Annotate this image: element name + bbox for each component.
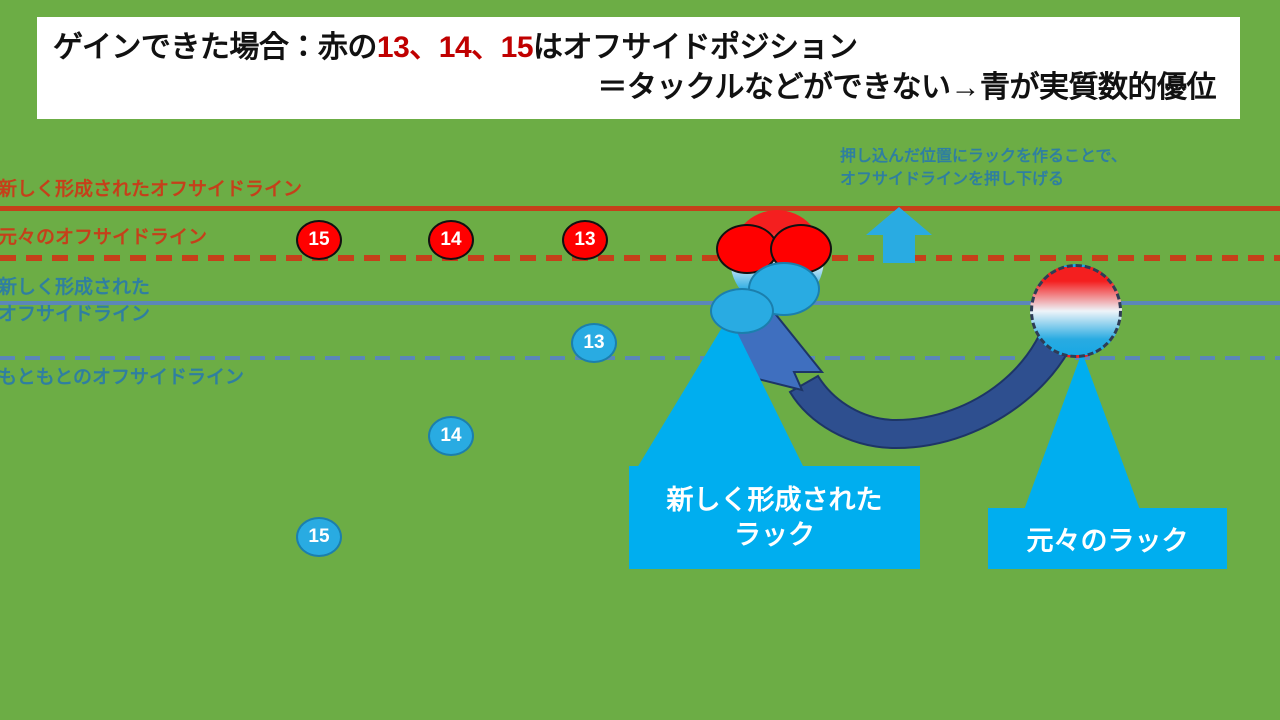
new-blue-offside-line-label-line1: 新しく形成された <box>0 278 150 298</box>
red-player-13-number: 13 <box>574 229 595 251</box>
red-player-14-number: 14 <box>440 229 461 251</box>
push-down-offside-note-line2: オフサイドラインを押し下げる <box>840 169 1240 192</box>
new-red-offside-line <box>0 206 1280 211</box>
new-red-offside-line-label: 新しく形成されたオフサイドライン <box>0 180 302 200</box>
title-line-1-numbers: 13、14、15 <box>377 31 533 64</box>
push-down-offside-note: 押し込んだ位置にラックを作ることで、 オフサイドラインを押し下げる <box>840 146 1240 191</box>
new-ruck-blue-player-b <box>710 288 774 334</box>
original-ruck-callout-line1: 元々のラック <box>1027 519 1189 558</box>
rugby-tactics-diagram: 新しく形成されたオフサイドライン 元々のオフサイドライン 新しく形成された オフ… <box>0 0 1280 720</box>
new-blue-offside-line-label-line2: オフサイドライン <box>0 305 150 325</box>
new-ruck-callout[interactable]: 新しく形成された ラック <box>629 466 920 569</box>
red-player-15[interactable]: 15 <box>296 220 342 260</box>
title-line-1-suffix: はオフサイドポジション <box>533 31 858 64</box>
blue-player-13-number: 13 <box>583 332 604 354</box>
title-line-1-prefix: ゲインできた場合：赤の <box>53 31 377 64</box>
title-line-2: ＝タックルなどができない→青が実質数的優位 <box>53 68 1226 108</box>
red-player-15-number: 15 <box>308 229 329 251</box>
push-up-arrow-icon <box>864 205 934 265</box>
old-blue-offside-line-label: もともとのオフサイドライン <box>0 368 244 388</box>
blue-player-15[interactable]: 15 <box>296 517 342 557</box>
red-player-14[interactable]: 14 <box>428 220 474 260</box>
red-player-13[interactable]: 13 <box>562 220 608 260</box>
original-ruck[interactable] <box>1030 264 1122 358</box>
original-ruck-callout[interactable]: 元々のラック <box>988 508 1227 569</box>
old-red-offside-line-label: 元々のオフサイドライン <box>0 228 207 248</box>
new-ruck[interactable] <box>718 210 820 314</box>
new-ruck-callout-line2: ラック <box>734 518 815 553</box>
blue-player-14[interactable]: 14 <box>428 416 474 456</box>
blue-player-14-number: 14 <box>440 425 461 447</box>
old-red-offside-line <box>0 255 1280 261</box>
title-banner: ゲインできた場合：赤の13、14、15はオフサイドポジション ＝タックルなどがで… <box>37 17 1240 119</box>
original-ruck-callout-tail <box>1020 352 1150 510</box>
new-ruck-callout-line1: 新しく形成された <box>667 483 883 518</box>
title-line-1: ゲインできた場合：赤の13、14、15はオフサイドポジション <box>53 28 1226 68</box>
new-ruck-callout-tail <box>629 316 809 468</box>
blue-player-15-number: 15 <box>308 526 329 548</box>
blue-player-13[interactable]: 13 <box>571 323 617 363</box>
push-down-offside-note-line1: 押し込んだ位置にラックを作ることで、 <box>840 146 1240 169</box>
